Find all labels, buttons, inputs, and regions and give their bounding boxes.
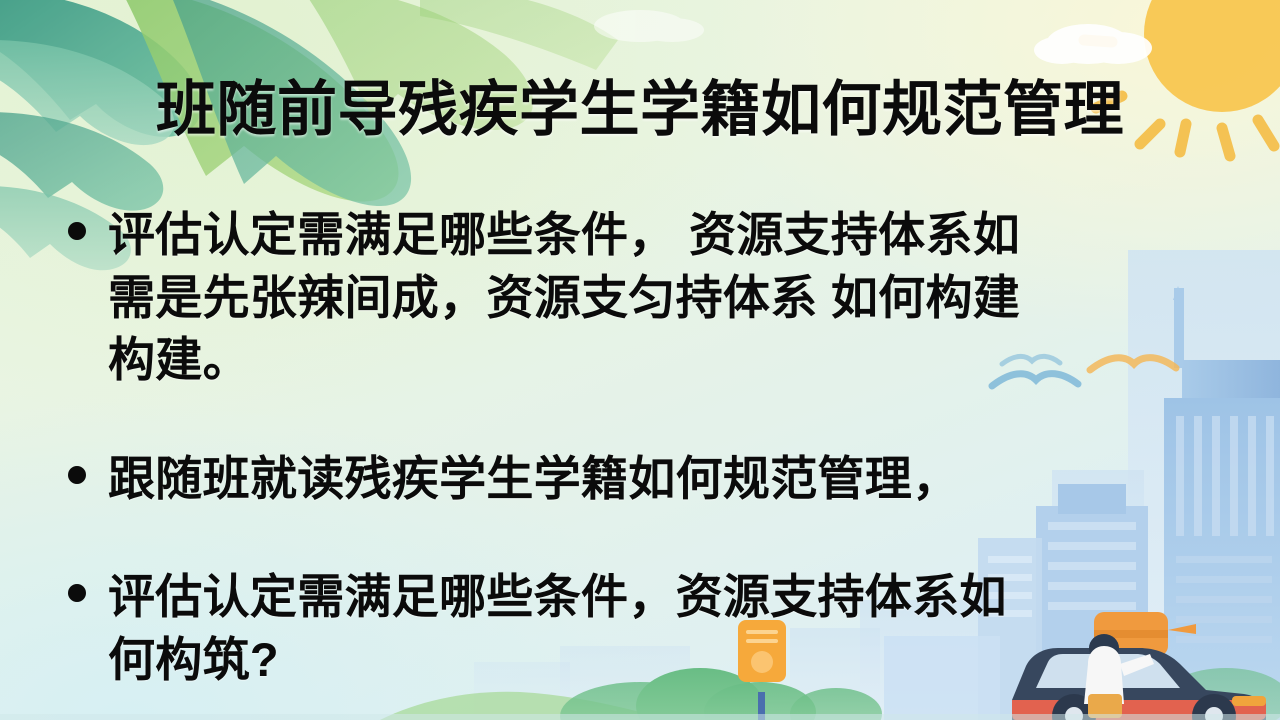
bullet-item-2: 跟随班就读残疾学生学籍如何规范管理， bbox=[62, 448, 1222, 511]
bullet-text-1: 评估认定需满足哪些条件， 资源支持体系如 需是先张辣间成，资源支匀持体系 如何构… bbox=[108, 204, 1222, 392]
slide-content: 班随前导残疾学生学籍如何规范管理 评估认定需满足哪些条件， 资源支持体系如 需是… bbox=[0, 0, 1280, 720]
bullet-3-line-2: 何构筑? bbox=[108, 629, 1222, 692]
bullet-text-3: 评估认定需满足哪些条件，资源支持体系如 何构筑? bbox=[108, 566, 1222, 691]
bullet-item-1: 评估认定需满足哪些条件， 资源支持体系如 需是先张辣间成，资源支匀持体系 如何构… bbox=[62, 204, 1222, 392]
bullet-dot-icon bbox=[68, 222, 86, 240]
bullet-1-line-1: 评估认定需满足哪些条件， 资源支持体系如 bbox=[108, 204, 1222, 267]
bullet-2-line-1: 跟随班就读残疾学生学籍如何规范管理， bbox=[108, 448, 1222, 511]
bullet-1-line-3: 构建。 bbox=[108, 329, 1222, 392]
slide-title: 班随前导残疾学生学籍如何规范管理 bbox=[0, 78, 1280, 141]
bullet-item-3: 评估认定需满足哪些条件，资源支持体系如 何构筑? bbox=[62, 566, 1222, 691]
bullet-list: 评估认定需满足哪些条件， 资源支持体系如 需是先张辣间成，资源支匀持体系 如何构… bbox=[62, 204, 1222, 697]
bullet-dot-icon bbox=[68, 584, 86, 602]
bullet-text-2: 跟随班就读残疾学生学籍如何规范管理， bbox=[108, 448, 1222, 511]
bullet-3-line-1: 评估认定需满足哪些条件，资源支持体系如 bbox=[108, 566, 1222, 629]
bullet-1-line-2: 需是先张辣间成，资源支匀持体系 如何构建 bbox=[108, 267, 1222, 330]
slide-canvas: 班随前导残疾学生学籍如何规范管理 评估认定需满足哪些条件， 资源支持体系如 需是… bbox=[0, 0, 1280, 720]
bullet-dot-icon bbox=[68, 466, 86, 484]
